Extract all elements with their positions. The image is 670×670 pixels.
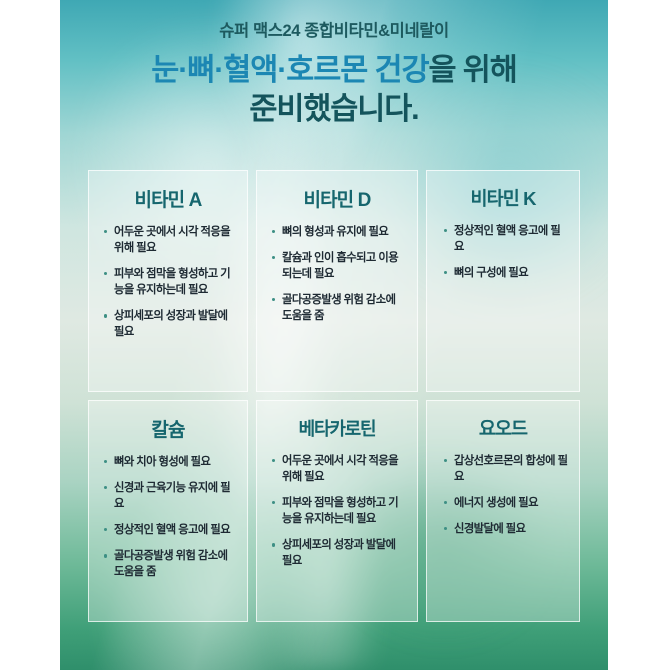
nutrient-benefit-item: 피부와 점막을 형성하고 기능을 유지하는데 필요 [272, 495, 407, 527]
nutrient-card-title: 칼슘 [95, 415, 241, 442]
nutrient-benefit-list: 어두운 곳에서 시각 적응을 위해 필요피부와 점막을 형성하고 기능을 유지하… [95, 224, 241, 340]
nutrient-benefit-item: 뼈의 구성에 필요 [444, 265, 569, 281]
nutrient-benefit-item: 뼈의 형성과 유지에 필요 [272, 224, 407, 240]
nutrient-card: 칼슘뼈와 치아 형성에 필요신경과 근육기능 유지에 필요정상적인 혈액 응고에… [88, 400, 248, 622]
nutrient-card: 비타민 A어두운 곳에서 시각 적응을 위해 필요피부와 점막을 형성하고 기능… [88, 170, 248, 392]
nutrient-card: 비타민 K정상적인 혈액 응고에 필요뼈의 구성에 필요 [426, 170, 580, 392]
nutrient-card-title: 비타민 K [433, 185, 573, 211]
nutrient-benefit-item: 갑상선호르몬의 합성에 필요 [444, 453, 569, 485]
nutrient-benefit-item: 정상적인 혈액 응고에 필요 [104, 522, 237, 538]
nutrient-benefit-item: 신경과 근육기능 유지에 필요 [104, 480, 237, 512]
nutrient-benefit-item: 골다공증발생 위험 감소에 도움을 줌 [272, 292, 407, 324]
nutrient-card: 베타카로틴어두운 곳에서 시각 적응을 위해 필요피부와 점막을 형성하고 기능… [256, 400, 418, 622]
nutrient-benefit-item: 에너지 생성에 필요 [444, 495, 569, 511]
nutrient-card: 비타민 D뼈의 형성과 유지에 필요칼슘과 인이 흡수되고 이용되는데 필요골다… [256, 170, 418, 392]
nutrient-card-title: 베타카로틴 [263, 415, 411, 441]
nutrient-benefit-list: 갑상선호르몬의 합성에 필요에너지 생성에 필요신경발달에 필요 [433, 453, 573, 537]
nutrient-benefit-list: 뼈의 형성과 유지에 필요칼슘과 인이 흡수되고 이용되는데 필요골다공증발생 … [263, 224, 411, 324]
nutrient-card-title: 요오드 [433, 415, 573, 441]
promo-poster: 슈퍼 맥스24 종합비타민&미네랄이 눈·뼈·혈액·호르몬 건강을 위해 준비했… [60, 0, 608, 670]
nutrient-benefit-list: 정상적인 혈액 응고에 필요뼈의 구성에 필요 [433, 223, 573, 281]
nutrient-benefit-item: 골다공증발생 위험 감소에 도움을 줌 [104, 548, 237, 580]
headline-rest-text: 을 위해 [428, 53, 516, 87]
headline-line-2: 준비했습니다. [60, 90, 608, 129]
nutrient-benefit-item: 어두운 곳에서 시각 적응을 위해 필요 [272, 453, 407, 485]
nutrient-card-title: 비타민 D [263, 185, 411, 212]
nutrient-benefit-item: 상피세포의 성장과 발달에 필요 [104, 308, 237, 340]
headline-block: 슈퍼 맥스24 종합비타민&미네랄이 눈·뼈·혈액·호르몬 건강을 위해 준비했… [60, 22, 608, 129]
headline-accent-text: 눈·뼈·혈액·호르몬 건강 [151, 53, 428, 87]
headline-line-1: 눈·뼈·혈액·호르몬 건강을 위해 [60, 51, 608, 90]
kicker-text: 슈퍼 맥스24 종합비타민&미네랄이 [60, 22, 608, 42]
nutrient-benefit-item: 신경발달에 필요 [444, 521, 569, 537]
nutrient-benefit-item: 상피세포의 성장과 발달에 필요 [272, 537, 407, 569]
nutrient-card-title: 비타민 A [95, 185, 241, 212]
nutrient-benefit-item: 피부와 점막을 형성하고 기능을 유지하는데 필요 [104, 266, 237, 298]
nutrient-benefit-item: 뼈와 치아 형성에 필요 [104, 454, 237, 470]
nutrient-benefit-item: 정상적인 혈액 응고에 필요 [444, 223, 569, 255]
nutrient-benefit-list: 뼈와 치아 형성에 필요신경과 근육기능 유지에 필요정상적인 혈액 응고에 필… [95, 454, 241, 580]
nutrient-benefit-item: 칼슘과 인이 흡수되고 이용되는데 필요 [272, 250, 407, 282]
nutrient-benefit-item: 어두운 곳에서 시각 적응을 위해 필요 [104, 224, 237, 256]
nutrient-card-grid: 비타민 A어두운 곳에서 시각 적응을 위해 필요피부와 점막을 형성하고 기능… [88, 170, 580, 622]
nutrient-benefit-list: 어두운 곳에서 시각 적응을 위해 필요피부와 점막을 형성하고 기능을 유지하… [263, 453, 411, 569]
nutrient-card: 요오드갑상선호르몬의 합성에 필요에너지 생성에 필요신경발달에 필요 [426, 400, 580, 622]
